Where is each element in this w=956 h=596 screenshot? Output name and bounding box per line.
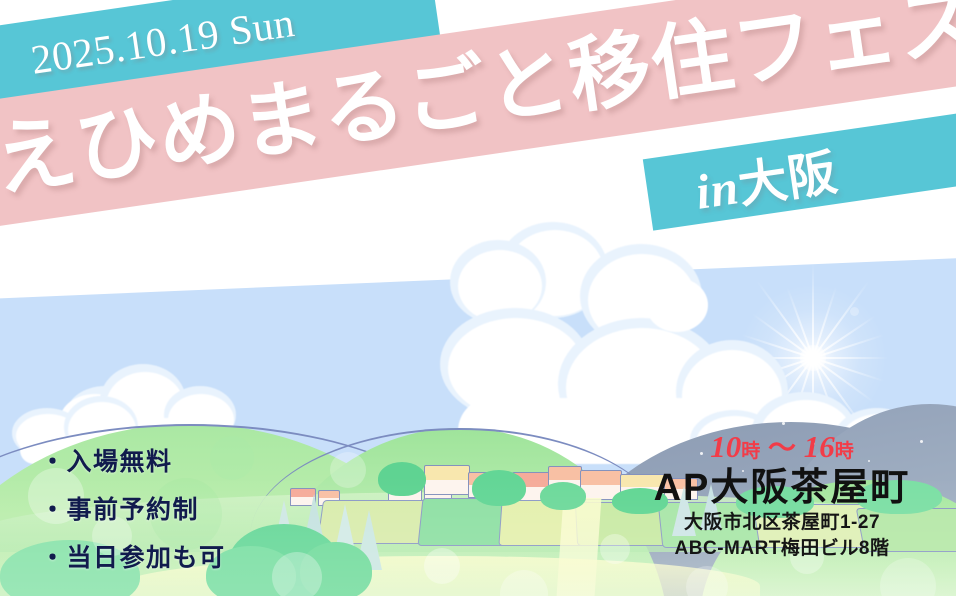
event-poster: 2025.10.19 Sun えひめまるごと移住フェス in大阪 ・入場無料 ・… [0,0,956,596]
venue-info: 10時 〜 16時 AP大阪茶屋町 大阪市北区茶屋町1-27 ABC-MART梅… [632,430,932,562]
time-start-unit: 時 [741,441,760,462]
time-end-unit: 時 [835,441,854,462]
time-start: 10 [710,429,741,464]
info-bullet-list: ・入場無料 ・事前予約制 ・当日参加も可 [40,450,226,571]
time-separator: 〜 [768,433,796,464]
list-item: ・当日参加も可 [40,546,226,571]
venue-address-line2: ABC-MART梅田ビル8階 [632,536,932,562]
location-banner: in大阪 [643,110,956,231]
list-item: ・入場無料 [40,450,226,475]
venue-address-line1: 大阪市北区茶屋町1-27 [632,510,932,536]
event-time: 10時 〜 16時 [632,430,932,465]
list-item: ・事前予約制 [40,498,226,523]
time-end: 16 [804,429,835,464]
location-banner-label: in大阪 [690,132,842,223]
in-place: 大阪 [735,145,842,213]
venue-name: AP大阪茶屋町 [632,467,932,511]
